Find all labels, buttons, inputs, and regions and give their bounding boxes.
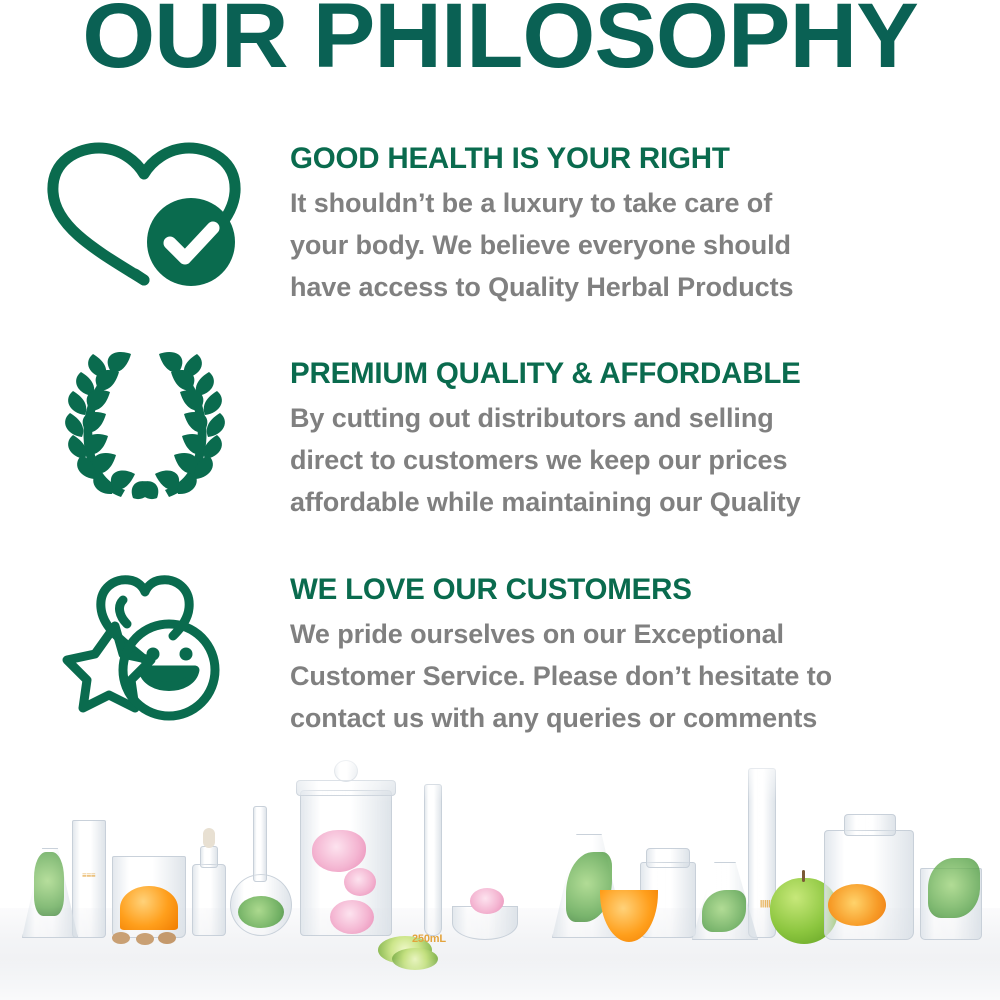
feature-text: GOOD HEALTH IS YOUR RIGHT It shouldn’t b… (290, 132, 811, 308)
feature-body: By cutting out distributors and selling … (290, 397, 801, 523)
features-list: GOOD HEALTH IS YOUR RIGHT It shouldn’t b… (0, 132, 1000, 765)
pink-flower (470, 888, 504, 914)
body-line: have access to Quality Herbal Products (290, 266, 793, 308)
feature-heading: WE LOVE OUR CUSTOMERS (290, 573, 832, 607)
body-line: Customer Service. Please don’t hesitate … (290, 655, 832, 697)
page-title: OUR PHILOSOPHY (0, 0, 1000, 84)
apple-stem (802, 870, 805, 882)
orange-wedge (120, 886, 178, 930)
dropper-bulb (203, 828, 215, 848)
laurel-wreath-icon (0, 343, 290, 503)
reagent-jar-neck (844, 814, 896, 836)
lab-glassware-photo: ||||||||||| ≡≡≡ (0, 742, 1000, 1000)
body-line: contact us with any queries or comments (290, 697, 832, 739)
feature-body: We pride ourselves on our Exceptional Cu… (290, 613, 832, 739)
feature-item: PREMIUM QUALITY & AFFORDABLE By cutting … (0, 343, 1000, 554)
feature-heading: PREMIUM QUALITY & AFFORDABLE (290, 357, 801, 391)
page-title-container: OUR PHILOSOPHY (0, 0, 1000, 84)
almond-seed (112, 932, 130, 944)
photo-bottom-fade (0, 958, 1000, 1000)
boiling-flask-neck (253, 806, 267, 882)
vine-sprig (928, 858, 980, 918)
feature-item: WE LOVE OUR CUSTOMERS We pride ourselves… (0, 554, 1000, 765)
body-line: your body. We believe everyone should (290, 224, 793, 266)
body-line: By cutting out distributors and selling (290, 397, 801, 439)
feature-text: WE LOVE OUR CUSTOMERS We pride ourselves… (290, 554, 850, 739)
orchid-flower (344, 868, 376, 896)
flask-volume-label: 250mL (412, 933, 446, 945)
heart-check-icon (0, 132, 290, 292)
reagent-bottle-stopper (646, 848, 690, 868)
dropper-cap (200, 846, 218, 868)
cylinder-scale-left: ≡≡≡ (82, 871, 95, 880)
sprout-plant (34, 852, 64, 916)
body-line: direct to customers we keep our prices (290, 439, 801, 481)
almond-seed (136, 933, 154, 945)
body-line: affordable while maintaining our Quality (290, 481, 801, 523)
marigold-flower (828, 884, 886, 926)
body-line: We pride ourselves on our Exceptional (290, 613, 832, 655)
almond-seed (158, 932, 176, 944)
body-line: It shouldn’t be a luxury to take care of (290, 182, 793, 224)
feature-text: PREMIUM QUALITY & AFFORDABLE By cutting … (290, 343, 819, 523)
heart-star-smiley-icon (0, 554, 290, 724)
dropper-bottle (192, 864, 226, 936)
feature-item: GOOD HEALTH IS YOUR RIGHT It shouldn’t b… (0, 132, 1000, 343)
philosophy-page: OUR PHILOSOPHY GOOD HEALTH IS YOUR RIGHT… (0, 0, 1000, 1000)
orchid-flower (330, 900, 374, 934)
photo-top-fade (0, 742, 1000, 802)
herb-sprig (238, 896, 284, 928)
feature-body: It shouldn’t be a luxury to take care of… (290, 182, 793, 308)
feature-heading: GOOD HEALTH IS YOUR RIGHT (290, 142, 793, 176)
test-tube-tall (424, 784, 442, 936)
